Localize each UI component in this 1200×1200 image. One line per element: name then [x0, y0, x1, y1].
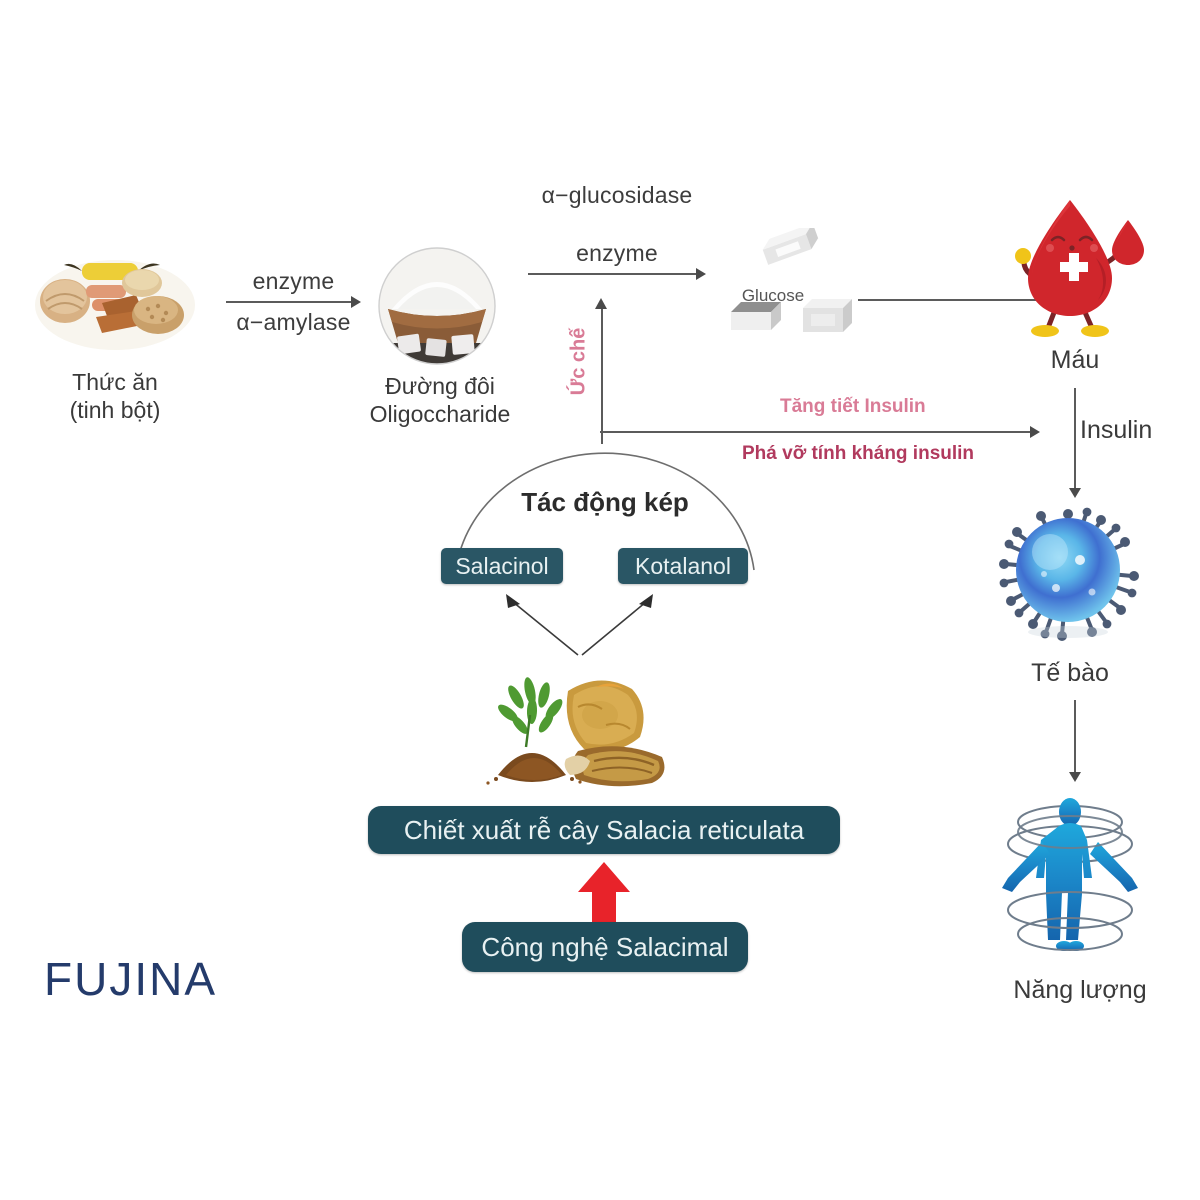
blood-label: Máu	[1020, 345, 1130, 376]
disaccharide-label-line2: Oligoccharide	[350, 400, 530, 428]
cell-icon	[988, 500, 1148, 650]
salacia-root-icon	[470, 655, 710, 805]
food-label-line1: Thức ăn	[25, 368, 205, 396]
infographic-canvas: Thức ăn (tinh bột) enzyme α−amylase	[0, 0, 1200, 1200]
edge-glucosidase-bottom: α−glucosidase	[528, 182, 706, 209]
edge-glucosidase-top: enzyme	[528, 240, 706, 267]
sugar-bowl-icon	[378, 247, 496, 365]
edge-amylase-bottom: α−amylase	[226, 309, 361, 336]
edge-insulin-resistance-label: Phá vỡ tính kháng insulin	[742, 443, 974, 465]
energy-figure-icon	[980, 782, 1160, 972]
technology-box[interactable]: Công nghệ Salacimal	[462, 922, 748, 972]
edge-cell-to-energy	[1069, 700, 1081, 782]
food-label: Thức ăn (tinh bột)	[25, 368, 205, 424]
edge-amylase-top: enzyme	[226, 268, 361, 295]
disaccharide-label: Đường đôi Oligoccharide	[350, 372, 530, 428]
edge-inhibit-line	[601, 308, 603, 444]
compound-kotalanol-label: Kotalanol	[635, 553, 731, 580]
compound-salacinol[interactable]: Salacinol	[441, 548, 563, 584]
compound-kotalanol[interactable]: Kotalanol	[618, 548, 748, 584]
food-starch-icon	[30, 243, 200, 358]
compound-salacinol-label: Salacinol	[455, 553, 548, 580]
technology-box-label: Công nghệ Salacimal	[481, 932, 728, 963]
red-arrow-icon	[574, 862, 634, 928]
edge-glucosidase: enzyme α−glucosidase	[528, 240, 706, 281]
edge-amylase: enzyme α−amylase	[226, 268, 361, 336]
edge-inhibit-label: Ức chế	[567, 328, 590, 396]
dual-action-title: Tác động kép	[465, 487, 745, 519]
edge-inhibit-arrowhead	[595, 298, 607, 309]
blood-drop-mascot-icon	[1000, 188, 1150, 338]
cell-label: Tế bào	[1010, 658, 1130, 689]
brand-logo: FUJINA	[44, 952, 217, 1006]
disaccharide-label-line1: Đường đôi	[350, 372, 530, 400]
edge-amylase-arrow	[226, 295, 361, 309]
edge-insulin-secretion-label: Tăng tiết Insulin	[780, 396, 926, 418]
extract-box-label: Chiết xuất rễ cây Salacia reticulata	[404, 815, 804, 846]
edge-insulin-label: Insulin	[1080, 415, 1200, 446]
energy-label: Năng lượng	[1000, 975, 1160, 1006]
edge-glucosidase-arrow	[528, 267, 706, 281]
food-label-line2: (tinh bột)	[25, 396, 205, 424]
glucose-label: Glucose	[718, 286, 828, 307]
extract-box[interactable]: Chiết xuất rễ cây Salacia reticulata	[368, 806, 840, 854]
